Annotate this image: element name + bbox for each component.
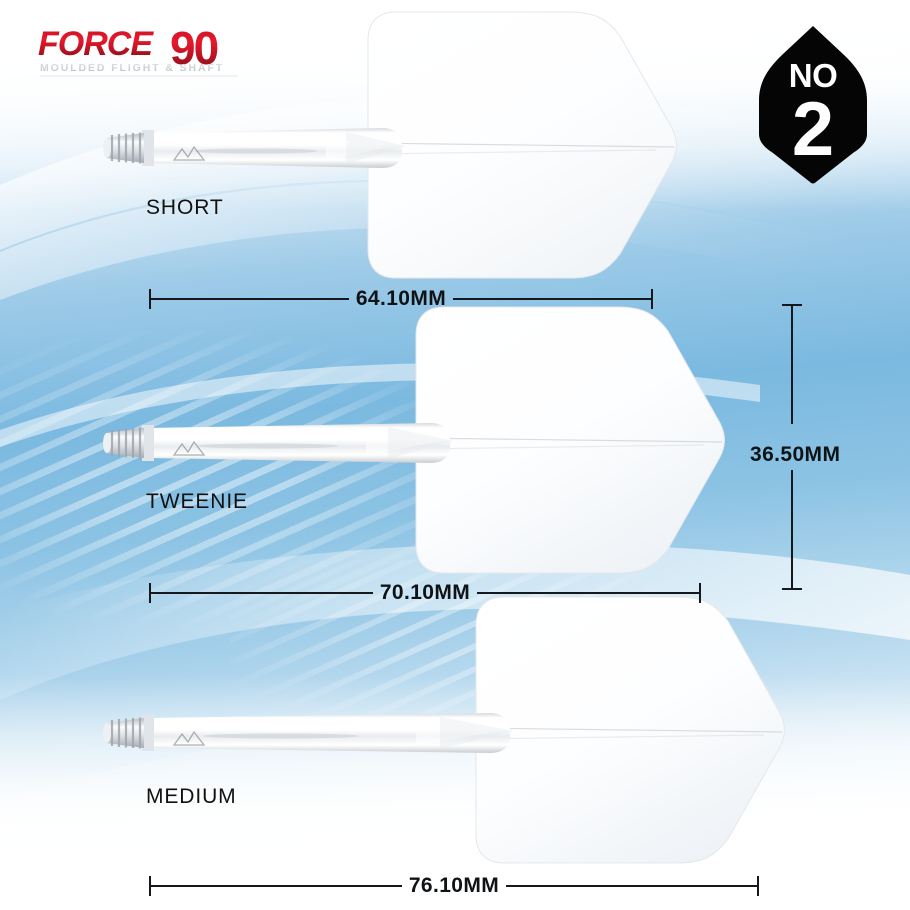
shaft-thread xyxy=(103,428,144,459)
dimension-rule-left xyxy=(151,885,402,887)
dimension-cap-right xyxy=(757,876,759,896)
flight-shape-badge: NO 2 xyxy=(757,24,869,186)
dimension-rule-left xyxy=(151,592,373,594)
dart-short xyxy=(96,0,676,300)
size-label-tweenie: TWEENIE xyxy=(146,490,248,514)
product-spec-image: FORCE 90 MOULDED FLIGHT & SHAFT NO 2 xyxy=(0,0,910,910)
dimension-value-medium: 76.10MM xyxy=(402,874,506,898)
dimension-value-short: 64.10MM xyxy=(349,287,453,311)
dimension-value-tweenie: 70.10MM xyxy=(373,581,477,605)
dimension-cap-right xyxy=(651,289,653,309)
dimension-width-tweenie: 70.10MM xyxy=(149,582,701,604)
size-label-medium: MEDIUM xyxy=(146,785,237,809)
dimension-cap-bottom xyxy=(782,588,802,590)
shaft-thread xyxy=(103,133,144,164)
dimension-rule-right xyxy=(506,885,757,887)
shaft-thread xyxy=(103,718,144,749)
dimension-cap-right xyxy=(699,583,701,603)
dimension-rule-right xyxy=(477,592,699,594)
dart-medium xyxy=(96,585,786,885)
size-label-short: SHORT xyxy=(146,196,224,220)
dimension-width-medium: 76.10MM xyxy=(149,875,759,897)
badge-number: 2 xyxy=(792,87,834,172)
dimension-width-short: 64.10MM xyxy=(149,288,653,310)
dimension-rule-bottom xyxy=(791,470,793,588)
dimension-value-height: 36.50MM xyxy=(750,443,840,467)
dart-tweenie xyxy=(96,295,726,595)
dimension-rule-left xyxy=(151,298,349,300)
dimension-rule-top xyxy=(791,306,793,424)
dimension-rule-right xyxy=(453,298,651,300)
